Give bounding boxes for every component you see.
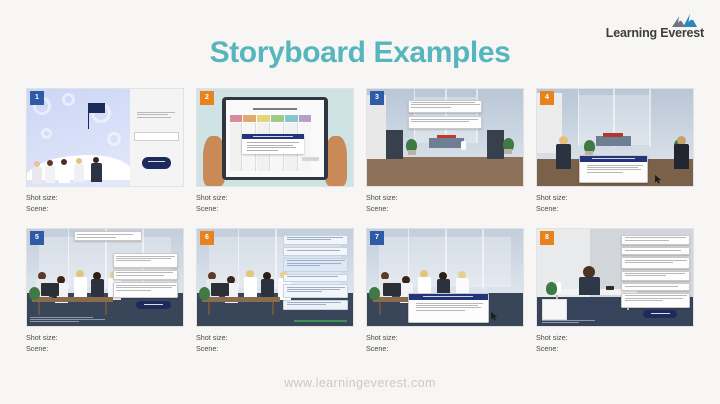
storyboard-cell-4: 4 [536,88,694,224]
panel8-text-box-6 [621,293,690,308]
panel5-text-box-1 [113,253,179,268]
cursor-icon [655,175,662,184]
panel1-submit-button[interactable] [142,157,172,169]
panel4-dialog-box [579,155,648,183]
panel2-tablet-screen[interactable] [226,100,325,177]
storyboard-frame-8[interactable]: 8 [536,228,694,327]
panel-number-badge: 4 [540,91,554,105]
panel5-text-box-3 [113,282,179,298]
storyboard-frame-2[interactable]: 2 [196,88,354,187]
panel-caption: Shot size: Scene: [536,192,694,214]
panel6-option-4[interactable] [283,274,349,283]
shot-size-label: Shot size: [536,192,694,203]
panel-caption: Shot size: Scene: [366,192,524,214]
panel-caption: Shot size: Scene: [536,332,694,354]
shot-size-label: Shot size: [366,332,524,343]
storyboard-cell-6: 6 [196,228,354,364]
panel-number-badge: 5 [30,231,44,245]
panel-number-badge: 8 [540,231,554,245]
panel6-option-5[interactable] [283,284,349,298]
panel3-narration-box-2 [408,116,483,129]
panel8-text-box-5 [621,283,690,291]
panel-number-badge: 3 [370,91,384,105]
panel3-narration-box-1 [408,100,483,114]
panel2-modal-header [242,134,303,139]
slide-canvas: Learning Everest Storyboard Examples 1 [0,0,720,404]
panel-caption: Shot size: Scene: [196,192,354,214]
scene-label: Scene: [366,343,524,354]
storyboard-frame-6[interactable]: 6 [196,228,354,327]
scene-label: Scene: [536,203,694,214]
cursor-icon [491,312,498,321]
panel6-option-1[interactable] [283,235,349,246]
panel1-form-area [130,89,183,186]
panel2-modal [242,134,303,154]
shot-size-label: Shot size: [536,332,694,343]
panel7-feedback-dialog [408,293,489,323]
storyboard-cell-5: 5 [26,228,184,364]
panel5-submit-button[interactable] [136,301,170,310]
panel1-form-prompt [134,110,179,126]
shot-size-label: Shot size: [196,192,354,203]
storyboard-grid: 1 [26,88,694,364]
panel6-option-6[interactable] [283,300,349,311]
storyboard-cell-1: 1 [26,88,184,224]
shot-size-label: Shot size: [366,192,524,203]
panel-number-badge: 6 [200,231,214,245]
panel-caption: Shot size: Scene: [196,332,354,354]
panel5-text-box-2 [113,270,179,281]
panel6-option-3[interactable] [283,258,349,272]
panel-caption: Shot size: Scene: [26,192,184,214]
panel8-text-box-3 [621,257,690,269]
panel-number-badge: 2 [200,91,214,105]
panel-caption: Shot size: Scene: [366,332,524,354]
scene-label: Scene: [536,343,694,354]
panel-number-badge: 1 [30,91,44,105]
scene-label: Scene: [196,203,354,214]
panel2-continue-button[interactable] [302,157,320,162]
panel4-dialog-header [580,156,647,162]
shot-size-label: Shot size: [26,332,184,343]
storyboard-cell-3: 3 [366,88,524,224]
panel1-name-input[interactable] [134,132,179,142]
panel5-caption-bar [74,231,143,241]
panel2-tablet [222,97,328,180]
footer-url: www.learningeverest.com [0,376,720,390]
storyboard-frame-5[interactable]: 5 [26,228,184,327]
panel8-text-box-2 [621,247,690,255]
storyboard-cell-2: 2 [196,88,354,224]
storyboard-frame-3[interactable]: 3 [366,88,524,187]
panel-caption: Shot size: Scene: [26,332,184,354]
scene-label: Scene: [26,203,184,214]
scene-label: Scene: [196,343,354,354]
scene-label: Scene: [26,343,184,354]
storyboard-frame-1[interactable]: 1 [26,88,184,187]
storyboard-frame-7[interactable]: 7 [366,228,524,327]
panel7-dialog-header [409,294,488,300]
scene-label: Scene: [366,203,524,214]
storyboard-cell-7: 7 [366,228,524,364]
storyboard-frame-4[interactable]: 4 [536,88,694,187]
panel8-text-box-1 [621,235,690,246]
storyboard-cell-8: 8 [536,228,694,364]
shot-size-label: Shot size: [196,332,354,343]
panel6-feedback-text [294,320,347,322]
panel6-option-2[interactable] [283,247,349,256]
panel8-next-button[interactable] [643,310,677,319]
shot-size-label: Shot size: [26,192,184,203]
panel-number-badge: 7 [370,231,384,245]
page-title: Storyboard Examples [0,36,720,70]
panel8-text-box-4 [621,271,690,282]
